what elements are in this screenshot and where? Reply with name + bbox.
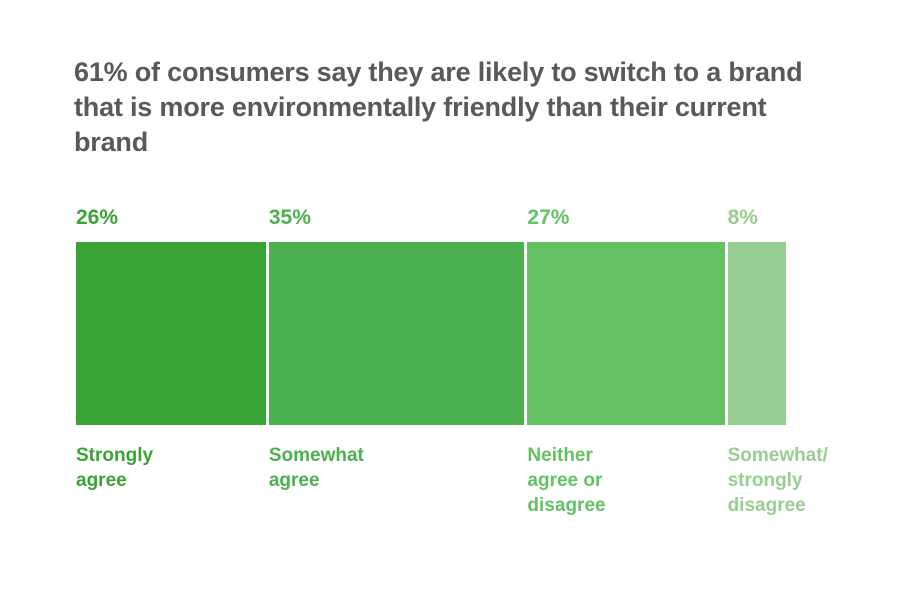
bar-segment-somewhat-strongly-disagree <box>728 242 786 425</box>
bar-segment-strongly-agree <box>76 242 266 425</box>
value-label-strongly-agree: 26% <box>76 203 118 233</box>
category-label-row: Strongly agree Somewhat agree Neither ag… <box>76 443 900 543</box>
stacked-bar <box>76 242 786 425</box>
bar-segment-neither-agree-or-disagree <box>527 242 724 425</box>
value-label-somewhat-agree: 35% <box>269 203 311 233</box>
chart-canvas: 61% of consumers say they are likely to … <box>0 0 900 600</box>
chart-title: 61% of consumers say they are likely to … <box>74 55 834 160</box>
bar-segment-somewhat-agree <box>269 242 525 425</box>
value-label-somewhat-strongly-disagree: 8% <box>728 203 758 233</box>
value-label-neither-agree-or-disagree: 27% <box>527 203 569 233</box>
chart-plot-area: 26% 35% 27% 8% Strongly agree Somewhat a… <box>76 203 786 543</box>
value-label-row: 26% 35% 27% 8% <box>76 203 786 239</box>
category-label-somewhat-strongly-disagree: Somewhat/ strongly disagree <box>728 443 848 518</box>
